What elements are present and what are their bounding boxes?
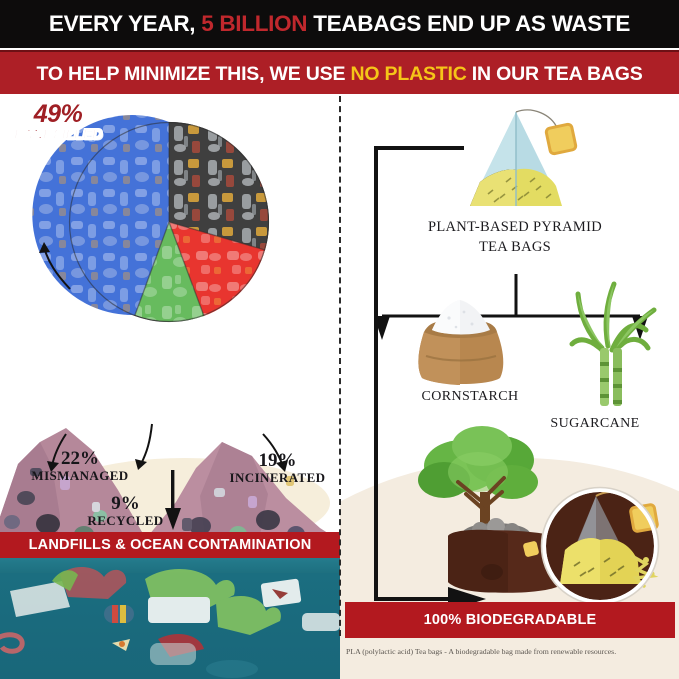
- header-title-secondary: TO HELP MINIMIZE THIS, WE USE NO PLASTIC…: [37, 63, 643, 86]
- floating-plastic-debris-icon: [0, 551, 340, 679]
- landfills-ocean-banner-text: LANDFILLS & OCEAN CONTAMINATION: [29, 537, 312, 553]
- caption-pyramid-tea-bags: PLANT-BASED PYRAMID TEA BAGS: [395, 218, 635, 257]
- caption-cornstarch: CORNSTARCH: [370, 389, 570, 405]
- pie-label-incinerated-name: INCINERATED: [220, 471, 335, 485]
- pie-label-mismanaged-name: MISMANAGED: [20, 469, 140, 483]
- pie-label-landfilled: 49% LANDFILLED: [14, 102, 102, 143]
- landfill-ocean-illustration: LANDFILLS & OCEAN CONTAMINATION: [0, 406, 340, 679]
- header-title-primary: EVERY YEAR, 5 BILLION TEABAGS END UP AS …: [49, 11, 630, 37]
- header-bar-secondary: TO HELP MINIMIZE THIS, WE USE NO PLASTIC…: [0, 50, 679, 96]
- tree-soil-decomposition-icon: [400, 424, 675, 604]
- pie-label-incinerated: 19% INCINERATED: [220, 451, 335, 485]
- header-title-accent: 5 BILLION: [201, 11, 307, 36]
- header-subtitle-post: IN OUR TEA BAGS: [467, 63, 643, 85]
- header-bar-primary: EVERY YEAR, 5 BILLION TEABAGS END UP AS …: [0, 0, 679, 48]
- pie-label-landfilled-name: LANDFILLED: [14, 128, 102, 143]
- biodegradable-banner: 100% BIODEGRADABLE: [345, 602, 675, 638]
- panel-divider: [339, 96, 341, 636]
- sugarcane-icon: [558, 276, 663, 411]
- pla-disclaimer-text: PLA (polylactic acid) Tea bags - A biode…: [346, 647, 671, 656]
- pie-label-landfilled-value: 49%: [14, 102, 102, 127]
- header-title-pre: EVERY YEAR,: [49, 11, 201, 36]
- header-subtitle-accent: NO PLASTIC: [350, 63, 466, 85]
- header-title-post: TEABAGS END UP AS WASTE: [307, 11, 630, 36]
- cornstarch-sack-icon: [402, 284, 517, 389]
- pie-label-recycled: 9% RECYCLED: [78, 494, 173, 528]
- infographic-page: EVERY YEAR, 5 BILLION TEABAGS END UP AS …: [0, 0, 679, 679]
- pyramid-tea-bag-icon: [456, 106, 576, 216]
- header-subtitle-pre: TO HELP MINIMIZE THIS, WE USE: [37, 63, 351, 85]
- left-panel-waste-statistics: 49% LANDFILLED 22% MISMANAGED 19% INCINE…: [0, 94, 340, 679]
- right-panel-biodegradable-solution: PLANT-BASED PYRAMID TEA BAGS CORNSTARCH: [340, 94, 679, 679]
- magnifier-circle: [542, 488, 659, 605]
- pie-label-incinerated-value: 19%: [220, 451, 335, 471]
- pie-label-mismanaged-value: 22%: [20, 449, 140, 469]
- caption-pyramid-line2: TEA BAGS: [395, 238, 635, 258]
- ocean-background: *Source: OECD (2023)- processed by Our W…: [0, 551, 340, 679]
- pie-label-recycled-value: 9%: [78, 494, 173, 514]
- pie-label-recycled-name: RECYCLED: [78, 514, 173, 528]
- landfills-ocean-banner: LANDFILLS & OCEAN CONTAMINATION: [0, 532, 340, 558]
- biodegradable-banner-text: 100% BIODEGRADABLE: [424, 612, 597, 628]
- pie-chart-plastic-waste: [69, 122, 269, 322]
- tree-icon: [418, 426, 538, 536]
- caption-pyramid-line1: PLANT-BASED PYRAMID: [395, 218, 635, 238]
- pie-label-mismanaged: 22% MISMANAGED: [20, 449, 140, 483]
